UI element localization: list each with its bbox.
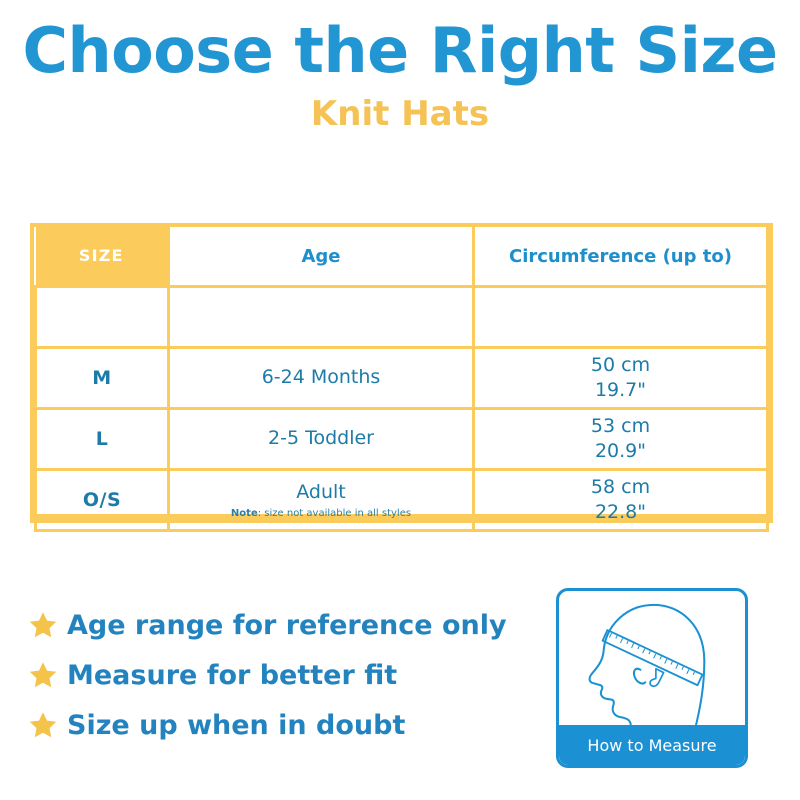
age-note-text: : size not available in all styles [258,508,411,519]
size-chart-table: SIZE Age Circumference (up to) [34,227,769,532]
age-note-label: Note [231,508,258,519]
how-to-measure-label: How to Measure [587,736,716,755]
cell-circumference [474,287,768,348]
circumference-cm: 53 cm [475,414,766,439]
size-value: L [96,428,109,450]
head-profile-with-measuring-tape-icon [559,591,745,733]
table-row: M 6-24 Months 50 cm 19.7" [36,348,768,409]
how-to-measure-label-bar[interactable]: How to Measure [559,725,745,765]
size-chart-table-container: SIZE Age Circumference (up to) [30,223,773,523]
star-icon [28,710,58,740]
page-title: Choose the Right Size [0,18,800,83]
age-value: Adult [170,481,472,505]
column-header-size: SIZE [36,227,169,287]
circumference-in: 22.8" [475,500,766,525]
age-note: Note: size not available in all styles [170,508,472,519]
column-header-size-label: SIZE [79,246,124,265]
list-item-label: Measure for better fit [67,660,397,691]
cell-age: 2-5 Toddler [169,409,474,470]
cell-age: Adult Note: size not available in all st… [169,470,474,531]
circumference-cm: 50 cm [475,353,766,378]
how-to-measure-panel[interactable]: How to Measure [556,588,748,768]
column-header-age: Age [169,227,474,287]
cell-age: 6-24 Months [169,348,474,409]
cell-size: O/S [36,470,169,531]
tips-list: Age range for reference only Measure for… [28,600,528,750]
table-row: O/S Adult Note: size not available in al… [36,470,768,531]
table-row [36,287,768,348]
cell-circumference: 58 cm 22.8" [474,470,768,531]
list-item-label: Age range for reference only [67,610,507,641]
column-header-circumference-label: Circumference (up to) [509,246,732,267]
size-value: M [92,367,111,389]
page-subtitle: Knit Hats [0,97,800,131]
circumference-in: 20.9" [475,439,766,464]
cell-age [169,287,474,348]
column-header-age-label: Age [301,246,340,267]
list-item: Age range for reference only [28,600,528,650]
cell-circumference: 53 cm 20.9" [474,409,768,470]
star-icon [28,610,58,640]
circumference-cm: 58 cm [475,475,766,500]
list-item: Size up when in doubt [28,700,528,750]
page-header: Choose the Right Size Knit Hats [0,0,800,131]
cell-size: L [36,409,169,470]
list-item-label: Size up when in doubt [67,710,405,741]
table-header-row: SIZE Age Circumference (up to) [36,227,768,287]
cell-size: M [36,348,169,409]
column-header-circumference: Circumference (up to) [474,227,768,287]
size-value: O/S [83,489,121,511]
table-row: L 2-5 Toddler 53 cm 20.9" [36,409,768,470]
circumference-in: 19.7" [475,378,766,403]
age-value: 2-5 Toddler [268,427,374,449]
star-icon [28,660,58,690]
cell-size [36,287,169,348]
list-item: Measure for better fit [28,650,528,700]
age-value: 6-24 Months [262,366,381,388]
cell-circumference: 50 cm 19.7" [474,348,768,409]
